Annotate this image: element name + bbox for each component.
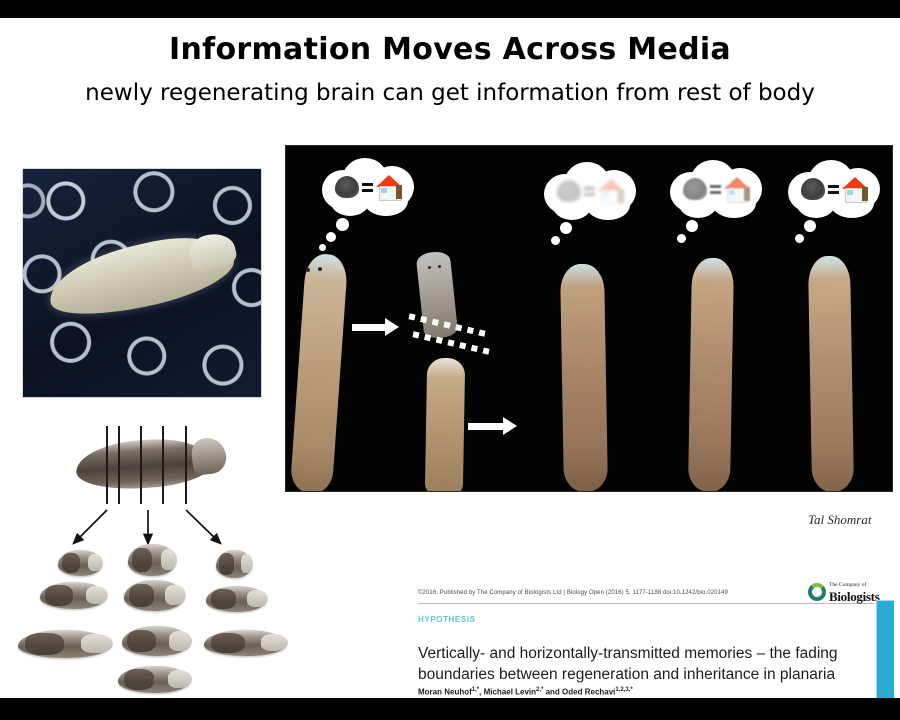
- planarian-regenerated-3: [808, 256, 854, 492]
- house-icon: [724, 177, 750, 201]
- eyespot: [306, 268, 310, 272]
- house-icon: [598, 179, 624, 203]
- planarian-memory-photo-panel: [285, 145, 893, 492]
- regen-source-worm-head: [190, 436, 228, 475]
- equals-icon: [828, 183, 839, 195]
- eyespot: [438, 265, 441, 268]
- bubble-tail-dot: [551, 236, 560, 245]
- slide-canvas: Information Moves Across Media newly reg…: [0, 18, 900, 698]
- planarian-micrograph: [22, 168, 262, 398]
- gray-blob-icon: [801, 178, 825, 200]
- bubble-tail-dot: [686, 220, 698, 232]
- eyespot: [428, 266, 431, 269]
- gray-blob-icon: [683, 178, 707, 200]
- cut-line: [162, 426, 164, 504]
- thought-bubble-1-content: [328, 172, 408, 202]
- bubble-tail-dot: [677, 234, 686, 243]
- bubble-tail-dot: [336, 218, 349, 231]
- journal-article-snippet[interactable]: ©2016. Published by The Company of Biolo…: [416, 570, 894, 698]
- arrow-right-lower: [468, 423, 504, 430]
- regen-fragment: [40, 582, 106, 609]
- equals-icon: [710, 183, 721, 195]
- cob-logo-the: The Company of: [829, 582, 866, 588]
- journal-accent-bar: [876, 600, 894, 698]
- letterbox-bottom: [0, 698, 900, 720]
- photo-credit: Tal Shomrat: [808, 512, 871, 528]
- eyespot: [318, 267, 322, 271]
- thought-bubble-4: [782, 158, 886, 222]
- house-icon: [376, 175, 402, 199]
- planarian-tail-fragment: [425, 358, 465, 492]
- planarian-regenerated-1: [560, 264, 608, 492]
- thought-bubble-3-content: [676, 174, 756, 204]
- cob-logo-name: Biologists: [829, 589, 879, 605]
- regen-fragment: [124, 580, 184, 611]
- arrow-right-upper: [352, 324, 386, 331]
- paper-copyright-line: ©2016. Published by The Company of Biolo…: [418, 590, 728, 596]
- paper-authors: Moran Neuhof1,*, Michael Levin2,* and Od…: [418, 687, 633, 697]
- paper-section-kicker: HYPOTHESIS: [418, 615, 476, 624]
- house-icon: [842, 177, 868, 201]
- regen-fragment: [128, 544, 176, 576]
- planarian-regeneration-diagram: [10, 418, 290, 698]
- bubble-tail-dot: [326, 232, 336, 242]
- cut-line: [140, 426, 142, 504]
- thought-bubble-2: [538, 160, 642, 224]
- planarian-intact-trained: [290, 253, 349, 492]
- cut-line: [185, 426, 187, 504]
- letterbox-top: [0, 0, 900, 18]
- regen-fragment: [58, 550, 102, 576]
- equals-icon: [584, 185, 595, 197]
- regen-fragment: [122, 626, 190, 656]
- page-title: Information Moves Across Media: [0, 32, 900, 67]
- cob-circle-icon: [808, 583, 826, 601]
- thought-bubble-4-content: [794, 174, 874, 204]
- bubble-tail-dot: [560, 222, 572, 234]
- thought-bubble-1: [316, 156, 420, 220]
- bubble-tail-dot: [795, 234, 804, 243]
- regen-fragment: [204, 630, 286, 656]
- company-of-biologists-logo: The Company of Biologists: [808, 580, 886, 606]
- bubble-tail-dot: [319, 244, 326, 251]
- planarian-regenerated-2: [688, 258, 734, 492]
- gray-blob-icon: [335, 176, 359, 198]
- cut-line: [118, 426, 120, 504]
- cut-line: [106, 426, 108, 504]
- gray-blob-icon: [557, 180, 581, 202]
- regen-fragment: [216, 550, 252, 578]
- page-subtitle: newly regenerating brain can get informa…: [0, 80, 900, 106]
- equals-icon: [362, 181, 373, 193]
- slide-root: Information Moves Across Media newly reg…: [0, 0, 900, 720]
- paper-divider: [418, 603, 874, 604]
- regen-fragment: [18, 630, 110, 658]
- paper-title: Vertically- and horizontally-transmitted…: [418, 643, 850, 685]
- thought-bubble-2-content: [550, 176, 630, 206]
- regen-fragment: [206, 586, 266, 612]
- regen-fragment: [118, 666, 190, 693]
- bubble-tail-dot: [804, 220, 816, 232]
- thought-bubble-3: [664, 158, 768, 222]
